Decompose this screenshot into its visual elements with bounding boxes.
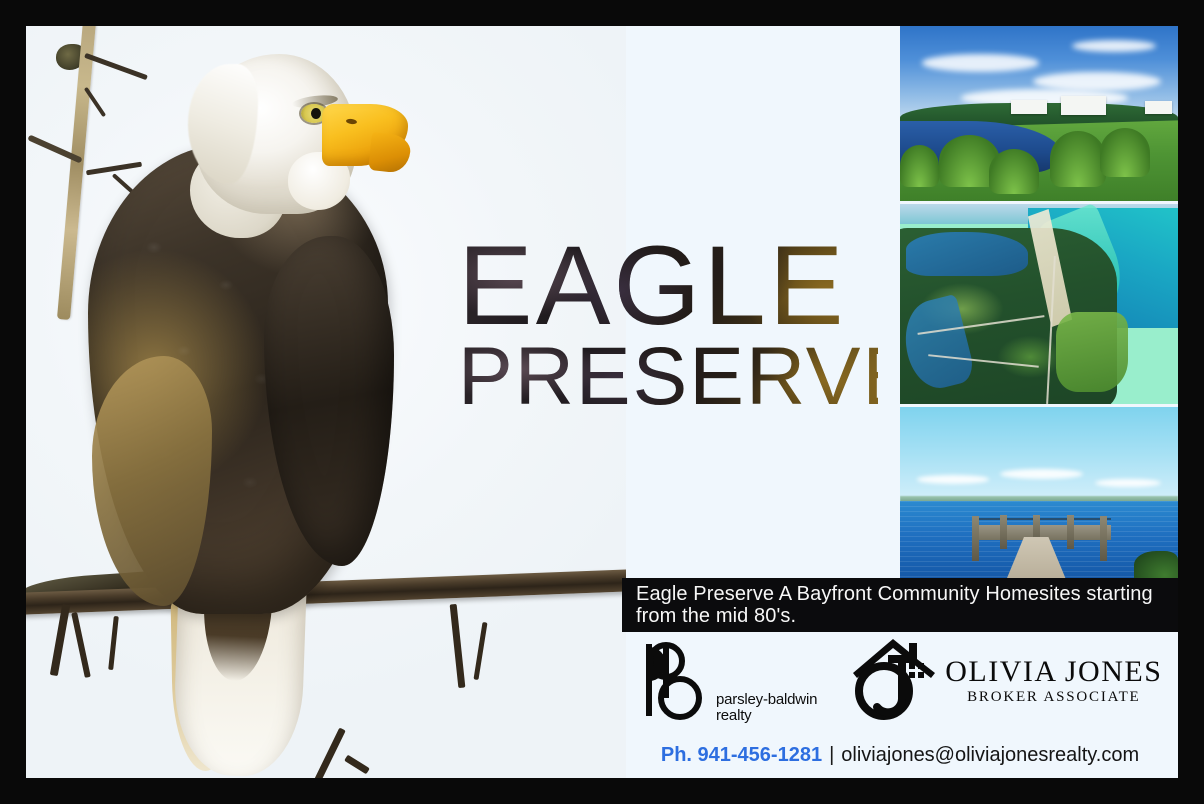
grass-tuft xyxy=(900,145,939,187)
parsley-baldwin-monogram-icon xyxy=(640,636,710,727)
cloud xyxy=(1000,469,1083,479)
cloud xyxy=(1033,72,1161,91)
distant-building xyxy=(1011,100,1047,114)
phone-number[interactable]: Ph. 941-456-1281 xyxy=(661,744,822,767)
parsley-baldwin-wordmark: parsley-baldwin realty xyxy=(716,692,817,726)
olivia-jones-wordmark: OLIVIA JONES BROKER ASSOCIATE xyxy=(945,657,1162,705)
olivia-jones-logo[interactable]: OLIVIA JONES BROKER ASSOCIATE xyxy=(847,633,1162,730)
house-oj-monogram-icon xyxy=(847,633,943,730)
logos-row: parsley-baldwin realty xyxy=(622,632,1178,730)
dock-piling xyxy=(1100,516,1107,560)
golf-course-area xyxy=(1056,312,1128,392)
headline-eagle: EAGLE xyxy=(458,234,878,337)
dock-piling xyxy=(1067,515,1074,549)
distant-building xyxy=(1061,96,1105,115)
dock-railing xyxy=(972,518,1111,520)
contact-separator: | xyxy=(829,744,834,767)
dock-piling xyxy=(1000,515,1007,549)
parsley-baldwin-line2: realty xyxy=(716,707,751,724)
distant-building xyxy=(1145,101,1173,113)
advertisement-panel: EAGLE PRESERVE xyxy=(26,26,1178,778)
dock-piling xyxy=(972,516,979,560)
bay-dock-photo xyxy=(900,407,1178,578)
tagline-text: Eagle Preserve A Bayfront Community Home… xyxy=(636,583,1178,628)
headline-preserve: PRESERVE xyxy=(458,339,878,414)
advertisement-root: EAGLE PRESERVE xyxy=(0,0,1204,804)
olivia-jones-role: BROKER ASSOCIATE xyxy=(967,690,1140,705)
cloud xyxy=(922,54,1039,72)
golf-course-lake-photo xyxy=(900,26,1178,201)
contact-line: Ph. 941-456-1281 | oliviajones@oliviajon… xyxy=(622,732,1178,778)
eagle-pupil xyxy=(311,108,321,119)
bay-water xyxy=(906,232,1028,276)
email-address[interactable]: oliviajones@oliviajonesrealty.com xyxy=(841,744,1139,767)
cloud xyxy=(917,475,989,484)
shoreline-vegetation xyxy=(1134,551,1178,578)
sky xyxy=(900,407,1178,501)
headline-block: EAGLE PRESERVE xyxy=(458,234,878,414)
parsley-baldwin-logo[interactable]: parsley-baldwin realty xyxy=(640,636,817,727)
grass-tuft xyxy=(1050,131,1106,187)
aerial-coastline-photo xyxy=(900,204,1178,404)
grass-tuft xyxy=(1100,128,1150,177)
photo-column xyxy=(900,26,1178,578)
grass-tuft xyxy=(989,149,1039,195)
parsley-baldwin-line1: parsley-baldwin xyxy=(716,691,817,708)
tagline-bar: Eagle Preserve A Bayfront Community Home… xyxy=(622,578,1178,632)
olivia-jones-name: OLIVIA JONES xyxy=(945,657,1162,687)
